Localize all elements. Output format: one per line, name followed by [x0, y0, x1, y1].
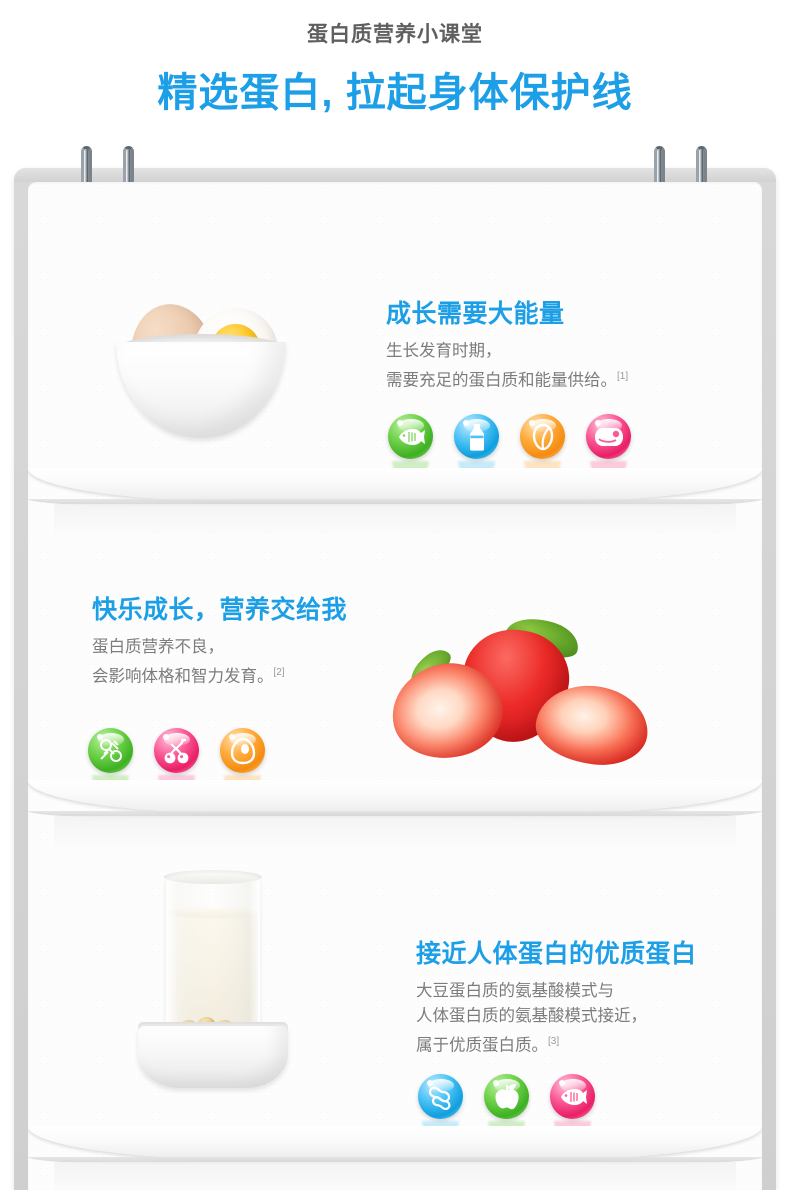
section-2-body-line-2-text: 会影响体格和智力发育。 [92, 668, 274, 686]
grain-icon[interactable] [520, 414, 565, 459]
section-1-body-line-1: 生长发育时期， [386, 339, 628, 364]
section-3-badges [418, 1074, 595, 1119]
white-bowl [116, 342, 286, 438]
section-2-badges [88, 728, 265, 773]
egg-icon[interactable] [220, 728, 265, 773]
cherry-icon[interactable] [154, 728, 199, 773]
meat-icon[interactable] [586, 414, 631, 459]
board-panel: 成长需要大能量 生长发育时期， 需要充足的蛋白质和能量供给。[1] [28, 182, 762, 1190]
section-2-body-line-2: 会影响体格和智力发育。[2] [92, 660, 347, 690]
section-3-body-line-3-text: 属于优质蛋白质。 [416, 1037, 548, 1055]
section-1-badges [388, 414, 631, 459]
section-2-reference: [2] [274, 667, 285, 678]
section-1-title: 成长需要大能量 [386, 294, 628, 330]
soy-milk-and-soybeans-image [138, 874, 338, 1110]
section-2-title: 快乐成长，营养交给我 [92, 590, 347, 626]
section-1-body-line-2: 需要充足的蛋白质和能量供给。[1] [386, 364, 628, 394]
page-header: 蛋白质营养小课堂 精选蛋白, 拉起身体保护线 [0, 0, 790, 140]
page-subtitle: 蛋白质营养小课堂 [0, 18, 790, 48]
apple-icon[interactable] [484, 1074, 529, 1119]
shelf-2 [28, 780, 762, 842]
section-2-text: 快乐成长，营养交给我 蛋白质营养不良， 会影响体格和智力发育。[2] [92, 590, 347, 690]
section-3-body-line-1: 大豆蛋白质的氨基酸模式与 [416, 979, 697, 1004]
boiled-eggs-in-bowl-image [116, 284, 296, 454]
section-3-title: 接近人体蛋白的优质蛋白 [416, 934, 697, 970]
glass-rim [164, 870, 262, 884]
peanut-icon[interactable] [418, 1074, 463, 1119]
strawberries-image [384, 614, 684, 782]
soybean-dish [138, 1026, 288, 1088]
section-3-body-line-3: 属于优质蛋白质。[3] [416, 1029, 697, 1059]
shelf-1 [28, 468, 762, 530]
milk-bottle-icon[interactable] [454, 414, 499, 459]
fish-icon[interactable] [550, 1074, 595, 1119]
section-1-body-line-2-text: 需要充足的蛋白质和能量供给。 [386, 372, 617, 390]
notice-board: 成长需要大能量 生长发育时期， 需要充足的蛋白质和能量供给。[1] [14, 168, 776, 1190]
vegetable-icon[interactable] [88, 728, 133, 773]
section-3-text: 接近人体蛋白的优质蛋白 大豆蛋白质的氨基酸模式与 人体蛋白质的氨基酸模式接近， … [416, 934, 697, 1059]
fish-icon[interactable] [388, 414, 433, 459]
section-3-body-line-2: 人体蛋白质的氨基酸模式接近， [416, 1004, 697, 1029]
section-3-reference: [3] [548, 1036, 559, 1047]
section-1-reference: [1] [617, 371, 628, 382]
section-1-text: 成长需要大能量 生长发育时期， 需要充足的蛋白质和能量供给。[1] [386, 294, 628, 394]
section-2-body-line-1: 蛋白质营养不良， [92, 635, 347, 660]
shelf-3 [28, 1126, 762, 1188]
page-title: 精选蛋白, 拉起身体保护线 [0, 60, 790, 118]
